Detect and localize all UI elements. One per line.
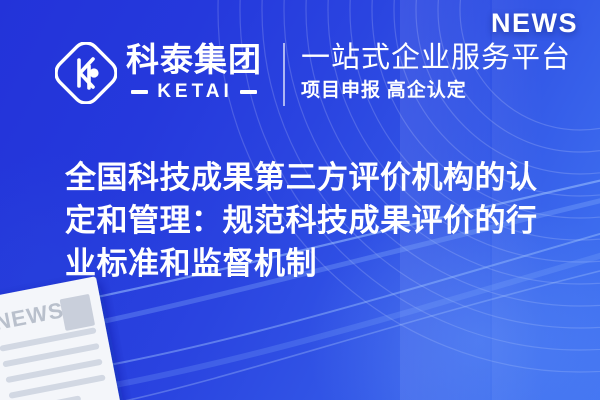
ketai-monogram-icon <box>55 42 117 104</box>
brand-slogan: 一站式企业服务平台 项目申报 高企认定 <box>301 40 571 104</box>
logo-name-cn: 科泰集团 <box>126 43 262 78</box>
banner-header: NEWS 科泰集团 KETAI <box>0 0 600 140</box>
logo-name-en-row: KETAI <box>126 81 262 103</box>
logo-name-en: KETAI <box>157 81 233 103</box>
logo-rule-left <box>131 90 148 94</box>
slogan-primary: 一站式企业服务平台 <box>301 40 571 76</box>
header-divider <box>283 43 285 106</box>
news-banner: NEWS 科泰集团 KETAI <box>0 0 600 400</box>
page-title: 全国科技成果第三方评价机构的认定和管理：规范科技成果评价的行业标准和监督机制 <box>65 156 565 285</box>
slogan-secondary: 项目申报 高企认定 <box>301 79 571 104</box>
brand-logo[interactable]: 科泰集团 KETAI <box>55 42 262 104</box>
logo-wordmark: 科泰集团 KETAI <box>126 43 262 103</box>
news-kicker: NEWS <box>491 8 578 39</box>
logo-rule-right <box>240 90 257 94</box>
